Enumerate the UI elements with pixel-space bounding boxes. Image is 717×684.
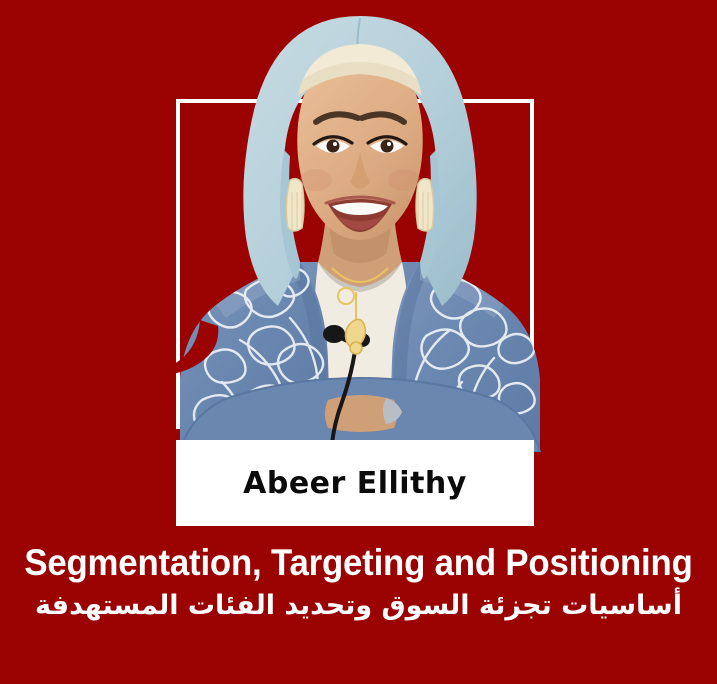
hijab-inner-band: [298, 44, 422, 96]
presenter-name: Abeer Ellithy: [243, 466, 467, 501]
course-title-english: Segmentation, Targeting and Positioning: [22, 540, 696, 586]
course-title-card: Abeer Ellithy Segmentation, Targeting an…: [0, 0, 717, 684]
name-plate: Abeer Ellithy: [176, 440, 534, 526]
title-block: Segmentation, Targeting and Positioning …: [0, 540, 717, 626]
course-title-arabic: أساسيات تجزئة السوق وتحديد الفئات المسته…: [0, 586, 717, 626]
photo-frame: [176, 99, 534, 429]
